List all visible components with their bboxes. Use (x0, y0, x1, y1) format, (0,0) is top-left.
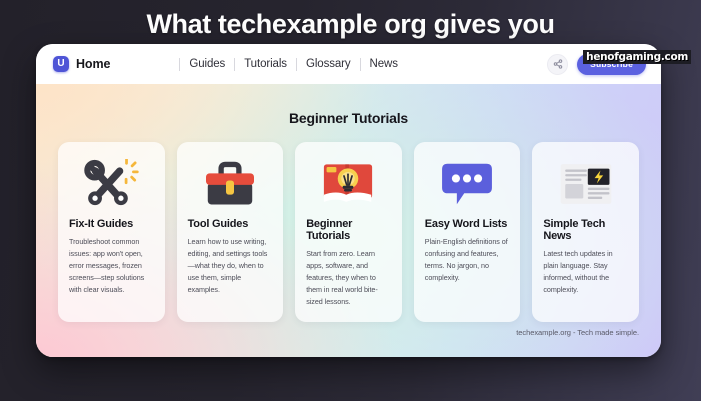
feature-card[interactable]: Beginner Tutorials Start from zero. Lear… (295, 142, 402, 322)
card-body: Plain-English definitions of confusing a… (425, 236, 510, 284)
nav-divider (360, 58, 361, 71)
brand-label: Home (76, 57, 110, 71)
nav-link-guides[interactable]: Guides (189, 58, 225, 70)
page-title: What techexample org gives you (0, 0, 701, 42)
feature-card[interactable]: Fix-It Guides Troubleshoot common issues… (58, 142, 165, 322)
speech-bubble-icon (440, 155, 494, 213)
card-body: Latest tech updates in plain language. S… (543, 248, 628, 296)
brand[interactable]: U Home (53, 56, 110, 72)
card-body: Learn how to use writing, editing, and s… (188, 236, 273, 296)
watermark: henofgaming.com (583, 50, 691, 64)
navbar: U Home Guides Tutorials Glossary News (36, 44, 661, 84)
card-body: Start from zero. Learn apps, software, a… (306, 248, 391, 308)
card-title: Tool Guides (188, 218, 249, 230)
card-title: Fix-It Guides (69, 218, 133, 230)
hero-title: Beginner Tutorials (36, 84, 661, 126)
feature-cards: Fix-It Guides Troubleshoot common issues… (36, 142, 661, 322)
logo-u-icon: U (53, 56, 69, 72)
wrench-spanner-icon (83, 155, 139, 213)
nav-link-glossary[interactable]: Glossary (306, 58, 351, 70)
share-icon[interactable] (547, 54, 568, 75)
nav-divider (296, 58, 297, 71)
card-title: Beginner Tutorials (306, 218, 391, 242)
card-title: Easy Word Lists (425, 218, 507, 230)
open-book-lightbulb-icon (320, 155, 376, 213)
footer-tagline: techexample.org - Tech made simple. (516, 328, 639, 337)
card-body: Troubleshoot common issues: app won't op… (69, 236, 154, 296)
hero-stage: Beginner Tutorials (36, 84, 661, 357)
feature-card[interactable]: Easy Word Lists Plain-English definition… (414, 142, 521, 322)
nav-links: Guides Tutorials Glossary News (170, 58, 398, 71)
newspaper-lightning-icon (558, 155, 614, 213)
logo-letter: U (57, 59, 64, 69)
feature-card[interactable]: Simple Tech News Latest tech updates in … (532, 142, 639, 322)
toolbox-icon (203, 155, 257, 213)
nav-divider (179, 58, 180, 71)
card-title: Simple Tech News (543, 218, 628, 242)
feature-card[interactable]: Tool Guides Learn how to use writing, ed… (177, 142, 284, 322)
nav-link-news[interactable]: News (370, 58, 398, 70)
app-window: U Home Guides Tutorials Glossary News (36, 44, 661, 357)
nav-divider (234, 58, 235, 71)
nav-link-tutorials[interactable]: Tutorials (244, 58, 287, 70)
